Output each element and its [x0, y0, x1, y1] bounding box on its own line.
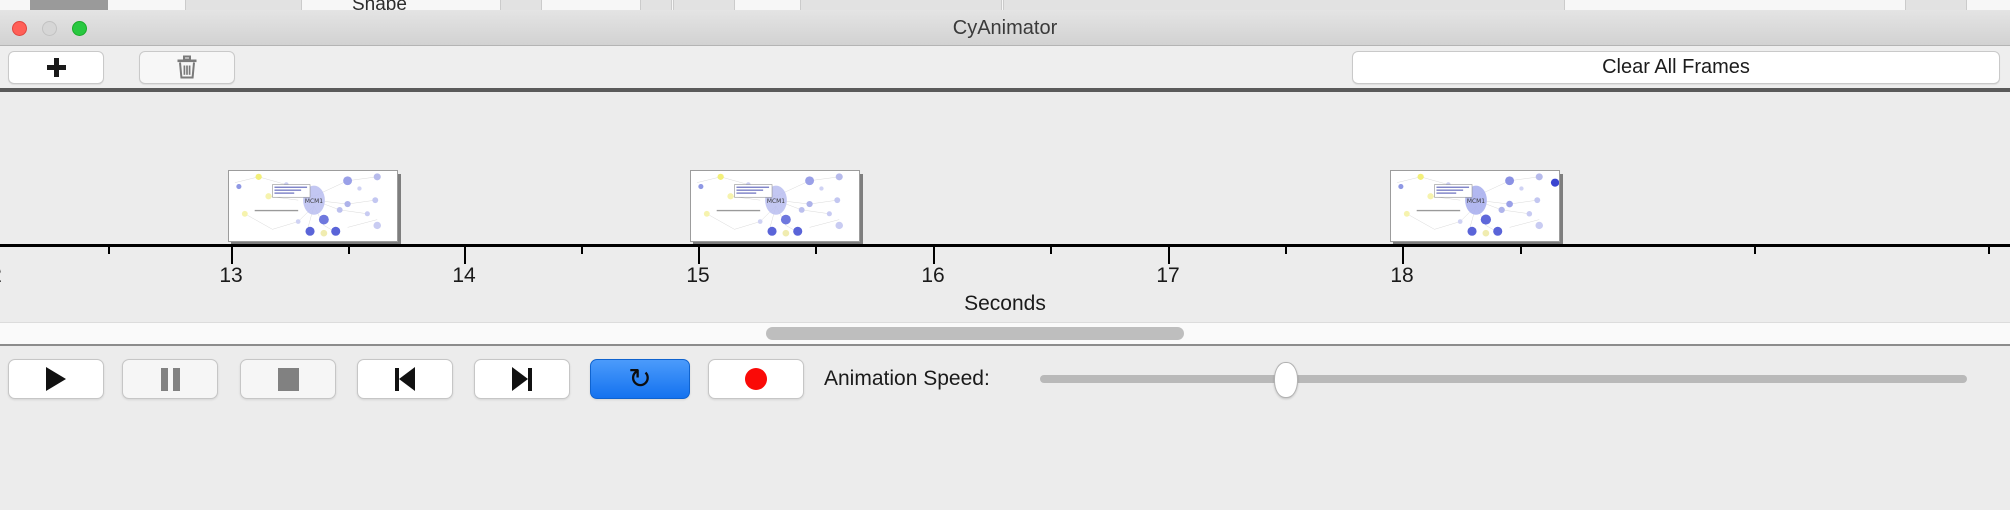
pause-icon — [161, 368, 180, 391]
axis-tick-minor — [1754, 244, 1756, 254]
axis-tick-label: 2 — [0, 264, 2, 288]
axis-tick-minor — [1050, 244, 1052, 254]
axis-tick-label: 17 — [1156, 264, 1179, 288]
animation-speed-label: Animation Speed: — [824, 359, 990, 399]
frame-thumbnail[interactable]: MCM1 — [228, 170, 398, 242]
axis-tick-label: 15 — [686, 264, 709, 288]
timeline-panel[interactable]: MCM1 — [0, 92, 2010, 322]
axis-tick-major — [464, 244, 466, 264]
axis-tick-major — [1402, 244, 1404, 264]
skip-forward-icon — [512, 367, 532, 391]
pause-button[interactable] — [122, 359, 218, 399]
play-button[interactable] — [8, 359, 104, 399]
toolbar: Clear All Frames — [0, 46, 2010, 88]
frame-thumbnail[interactable]: MCM1 — [1390, 170, 1560, 242]
animation-speed-slider[interactable] — [1040, 375, 1967, 383]
cyanimator-window: Shape CyAnimator Clear All Frames — [0, 0, 2010, 510]
axis-tick-minor — [1285, 244, 1287, 254]
axis-tick-minor — [581, 244, 583, 254]
timeline-axis — [0, 244, 2010, 247]
network-preview: MCM1 — [1391, 171, 1559, 241]
axis-tick-major — [231, 244, 233, 264]
loop-button[interactable]: ↻ — [590, 359, 690, 399]
axis-title: Seconds — [0, 292, 2010, 316]
skip-to-start-button[interactable] — [357, 359, 453, 399]
record-button[interactable] — [708, 359, 804, 399]
title-bar: CyAnimator — [0, 10, 2010, 46]
slider-knob[interactable] — [1274, 362, 1298, 398]
axis-tick-major — [933, 244, 935, 264]
axis-tick-minor — [348, 244, 350, 254]
bg-dark-block — [30, 0, 108, 10]
axis-tick-label: 18 — [1390, 264, 1413, 288]
stop-icon — [278, 368, 299, 391]
plus-icon — [47, 58, 66, 77]
network-preview: MCM1 — [691, 171, 859, 241]
trash-icon — [176, 55, 198, 80]
svg-text:MCM1: MCM1 — [767, 199, 785, 205]
window-title: CyAnimator — [0, 10, 2010, 46]
axis-tick-label: 16 — [921, 264, 944, 288]
record-icon — [745, 368, 767, 390]
scrollbar-thumb[interactable] — [766, 327, 1184, 340]
axis-tick-major — [698, 244, 700, 264]
stop-button[interactable] — [240, 359, 336, 399]
slider-track — [1040, 375, 1967, 383]
network-preview: MCM1 — [229, 171, 397, 241]
frame-thumbnail[interactable]: MCM1 — [690, 170, 860, 242]
clear-all-frames-button[interactable]: Clear All Frames — [1352, 51, 2000, 84]
axis-tick-label: 13 — [219, 264, 242, 288]
axis-tick-minor — [1520, 244, 1522, 254]
skip-to-end-button[interactable] — [474, 359, 570, 399]
axis-tick-label: 14 — [452, 264, 475, 288]
play-icon — [46, 367, 66, 391]
add-frame-button[interactable] — [8, 51, 104, 84]
horizontal-scrollbar[interactable] — [0, 322, 2010, 346]
delete-frame-button[interactable] — [139, 51, 235, 84]
axis-tick-minor — [1988, 244, 1990, 254]
axis-tick-minor — [815, 244, 817, 254]
svg-text:MCM1: MCM1 — [1467, 199, 1485, 205]
loop-icon: ↻ — [628, 365, 651, 393]
playback-controls: ↻ Animation Speed: — [0, 348, 2010, 510]
clear-all-frames-label: Clear All Frames — [1602, 56, 1750, 79]
skip-back-icon — [395, 367, 415, 391]
svg-text:MCM1: MCM1 — [305, 199, 323, 205]
axis-tick-major — [1168, 244, 1170, 264]
axis-tick-minor — [108, 244, 110, 254]
